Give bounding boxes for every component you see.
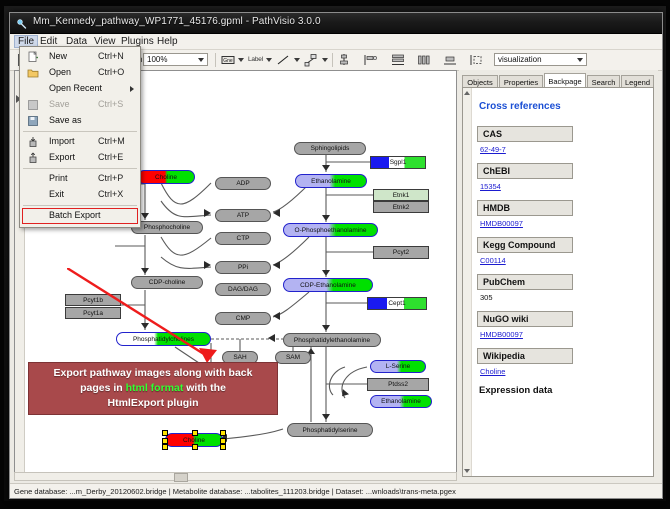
selection-handle[interactable] — [162, 444, 168, 450]
save-disk-icon — [27, 99, 39, 111]
metabolite-node-ethanolamine2[interactable]: Ethanolamine — [370, 395, 432, 408]
arrow-petn-to-cdpetn — [322, 270, 330, 276]
menu-item-print[interactable]: PrintCtrl+P — [20, 171, 140, 187]
node-label: CTP — [237, 235, 250, 242]
metabolite-node-sphingolipids[interactable]: Sphingolipids — [294, 142, 366, 155]
metabolite-node-adp[interactable]: ADP — [215, 177, 271, 190]
callout-line-2-pre: pages in — [80, 382, 126, 394]
node-label: PPi — [238, 264, 248, 271]
callout-highlight: html format — [126, 382, 184, 394]
node-label: Ptdss2 — [388, 381, 408, 388]
window-title: Mm_Kennedy_pathway_WP1771_45176.gpml - P… — [33, 16, 321, 27]
menu-item-save-as[interactable]: Save as — [20, 113, 140, 129]
metabolite-node-cdp-choline[interactable]: CDP-choline — [131, 276, 203, 289]
metabolite-node-ctp[interactable]: CTP — [215, 232, 271, 245]
pathvisio-icon — [16, 17, 28, 29]
node-label: Ethanolamine — [311, 178, 351, 185]
metabolite-node-dag-dag[interactable]: DAG/DAG — [215, 283, 271, 296]
chevron-down-icon-2 — [577, 58, 583, 62]
menu-separator — [23, 131, 137, 132]
node-label: Phosphatidylcholines — [133, 336, 194, 343]
visualization-value: visualization — [498, 55, 542, 64]
menu-item-accelerator: Ctrl+M — [98, 136, 125, 146]
side-panel-tabs: Objects Properties Backpage Search Legen… — [462, 73, 658, 88]
arrow-cmp-right — [273, 312, 280, 320]
cross-references-heading: Cross references — [479, 101, 647, 112]
menu-item-label: Open — [49, 67, 71, 77]
metabolite-node-l-serine[interactable]: L-Serine — [370, 360, 426, 373]
arrow-atp-right — [273, 209, 280, 217]
menu-item-label: Open Recent — [49, 83, 102, 93]
menu-item-label: Print — [49, 173, 68, 183]
svg-text:Gne: Gne — [223, 58, 233, 64]
gene-node-pcyt2[interactable]: Pcyt2 — [373, 246, 429, 259]
window-titlebar: Mm_Kennedy_pathway_WP1771_45176.gpml - P… — [10, 13, 662, 34]
xref-source-hmdb: HMDB — [477, 200, 573, 216]
line-icon[interactable] — [275, 52, 291, 68]
metabolite-node-phosphatidylethanolamine[interactable]: Phosphatidylethanolamine — [283, 333, 381, 347]
node-label: ADP — [236, 180, 249, 187]
menu-item-accelerator: Ctrl+X — [98, 189, 123, 199]
selection-handle[interactable] — [192, 444, 198, 450]
arrow-ppi-right — [273, 261, 280, 269]
menu-item-label: Batch Export — [49, 210, 101, 220]
open-folder-icon — [27, 67, 39, 79]
gene-node-etnk2[interactable]: Etnk2 — [373, 201, 429, 213]
gene-node-pcyt1b[interactable]: Pcyt1b — [65, 294, 121, 306]
xref-value-pubchem: 305 — [480, 293, 647, 302]
metabolite-node-ppi[interactable]: PPi — [215, 261, 271, 274]
node-label: Sphingolipids — [311, 145, 350, 152]
metabolite-node-o-phosphoethanolamine[interactable]: O-Phosphoethanolamine — [283, 223, 378, 237]
scroll-down-icon[interactable] — [464, 469, 470, 473]
backpage-content: Cross references CAS62-49-7ChEBI15354HMD… — [473, 88, 651, 476]
pathvisio-window: Mm_Kennedy_pathway_WP1771_45176.gpml - P… — [9, 12, 663, 499]
export-icon — [27, 152, 39, 164]
align-left-icon[interactable] — [362, 52, 378, 68]
node-label: DAG/DAG — [228, 286, 258, 293]
node-label: Choline — [155, 174, 177, 181]
arrow-phosphocholine-to-cdpcholine — [141, 268, 149, 274]
arrow-etn-to-petn — [322, 215, 330, 221]
metabolite-node-ethanolamine[interactable]: Ethanolamine — [295, 174, 367, 188]
annotation-callout: Export pathway images along with back pa… — [28, 362, 278, 415]
datanode-dropdown-icon[interactable] — [238, 58, 244, 62]
visualization-combobox[interactable]: visualization — [494, 53, 587, 66]
chevron-right-icon — [130, 86, 134, 92]
menu-item-save: SaveCtrl+S — [20, 97, 140, 113]
node-label: Etnk2 — [393, 204, 410, 211]
selection-handle[interactable] — [192, 430, 198, 436]
arrow-pe-to-pc — [268, 334, 275, 342]
gene-node-pcyt1a[interactable]: Pcyt1a — [65, 307, 121, 319]
menu-item-exit[interactable]: ExitCtrl+X — [20, 187, 140, 203]
metabolite-node-phosphatidylserine[interactable]: Phosphatidylserine — [287, 423, 373, 437]
new-document-icon — [27, 51, 39, 63]
node-label: CDP-choline — [149, 279, 186, 286]
canvas-horizontal-scrollbar[interactable] — [14, 472, 457, 481]
gene-node-sgpl1[interactable]: Sgpl1 — [370, 156, 426, 169]
menu-item-new[interactable]: NewCtrl+N — [20, 49, 140, 65]
callout-line-1: Export pathway images along with back — [35, 366, 271, 381]
arrow-pe-to-ps — [322, 414, 330, 420]
import-icon — [27, 136, 39, 148]
metabolite-node-cdp-ethanolamine[interactable]: CDP-Ethanolamine — [283, 278, 373, 292]
xref-value-wikipedia[interactable]: Choline — [480, 367, 647, 376]
chevron-down-icon — [198, 58, 204, 62]
node-label: Etnk1 — [393, 192, 410, 199]
metabolite-node-cmp[interactable]: CMP — [215, 312, 271, 325]
node-label: Choline — [183, 437, 205, 444]
menu-item-accelerator: Ctrl+S — [98, 99, 123, 109]
gene-node-ptdss2[interactable]: Ptdss2 — [367, 378, 429, 391]
group-icon[interactable] — [468, 52, 484, 68]
screenshot-root: Mm_Kennedy_pathway_WP1771_45176.gpml - P… — [0, 0, 670, 509]
interaction-dropdown-icon[interactable] — [322, 58, 328, 62]
xref-source-chebi: ChEBI — [477, 163, 573, 179]
gene-node-cept1[interactable]: Cept1 — [367, 297, 427, 310]
zoom-combobox[interactable]: 100% — [143, 53, 208, 66]
metabolite-node-phosphocholine[interactable]: Phosphocholine — [131, 221, 203, 234]
menu-item-label: Save — [49, 99, 70, 109]
xref-source-wikipedia: Wikipedia — [477, 348, 573, 364]
callout-line-2-post: with the — [183, 382, 226, 394]
node-label: O-Phosphoethanolamine — [295, 227, 367, 234]
node-label: CMP — [236, 315, 250, 322]
callout-line-3: HtmlExport plugin — [35, 396, 271, 411]
metabolite-node-atp[interactable]: ATP — [215, 209, 271, 222]
node-label: SAM — [286, 354, 300, 361]
interaction-icon[interactable] — [303, 52, 319, 68]
cross-reference-list: CAS62-49-7ChEBI15354HMDBHMDB00097Kegg Co… — [477, 126, 647, 376]
save-as-icon — [27, 115, 39, 127]
status-bar: Gene database: ...m_Derby_20120602.bridg… — [10, 483, 662, 498]
menu-item-label: Import — [49, 136, 75, 146]
arrow-sphingolipids-to-etn — [322, 165, 330, 171]
node-label: L-Serine — [386, 363, 411, 370]
node-label: Ethanolamine — [381, 398, 421, 405]
arrow-cdpetn-to-pe — [322, 325, 330, 331]
node-label: ATP — [237, 212, 249, 219]
selection-handle[interactable] — [220, 430, 226, 436]
line-dropdown-icon[interactable] — [294, 58, 300, 62]
label-dropdown-icon[interactable] — [266, 58, 272, 62]
menu-item-open-recent[interactable]: Open Recent — [20, 81, 140, 97]
size-icon[interactable] — [442, 52, 458, 68]
side-panel: Objects Properties Backpage Search Legen… — [459, 70, 658, 479]
xref-value-kegg-compound[interactable]: C00114 — [480, 256, 647, 265]
metabolite-node-phosphatidylcholines[interactable]: Phosphatidylcholines — [116, 332, 211, 346]
menu-item-accelerator: Ctrl+N — [98, 51, 124, 61]
xref-value-cas[interactable]: 62-49-7 — [480, 145, 647, 154]
file-menu-items: NewCtrl+NOpenCtrl+OOpen RecentSaveCtrl+S… — [20, 49, 140, 224]
toolbar-separator-3 — [215, 53, 216, 67]
stack-icon[interactable] — [390, 52, 406, 68]
xref-value-nugo-wiki[interactable]: HMDB00097 — [480, 330, 647, 339]
callout-line-2: pages in html format with the — [35, 381, 271, 396]
menu-item-label: Exit — [49, 189, 64, 199]
align-top-icon[interactable] — [336, 52, 352, 68]
expression-data-heading: Expression data — [479, 385, 647, 396]
menu-item-import[interactable]: ImportCtrl+M — [20, 134, 140, 150]
backpage-panel: Cross references CAS62-49-7ChEBI15354HMD… — [462, 87, 654, 477]
datanode-icon[interactable]: Gne — [220, 52, 236, 68]
metabolite-node-sam[interactable]: SAM — [275, 351, 311, 364]
tab-backpage[interactable]: Backpage — [544, 73, 586, 88]
node-label: CDP-Ethanolamine — [300, 282, 356, 289]
menu-separator — [23, 205, 137, 206]
node-label: SAH — [233, 354, 246, 361]
selection-handle[interactable] — [162, 430, 168, 436]
distribute-icon[interactable] — [416, 52, 432, 68]
menu-item-label: Save as — [49, 115, 82, 125]
menu-item-accelerator: Ctrl+P — [98, 173, 123, 183]
gene-node-etnk1[interactable]: Etnk1 — [373, 189, 429, 201]
toolbar-separator-4 — [332, 53, 333, 67]
node-label: Phosphocholine — [144, 224, 190, 231]
node-label: Sgpl1 — [390, 159, 407, 166]
zoom-value: 100% — [147, 55, 167, 64]
arrow-to-ppi — [204, 261, 211, 269]
selection-handle[interactable] — [220, 444, 226, 450]
menu-item-open[interactable]: OpenCtrl+O — [20, 65, 140, 81]
arrow-choline-to-phosphocholine — [141, 213, 149, 219]
menu-item-label: Export — [49, 152, 75, 162]
xref-source-cas: CAS — [477, 126, 573, 142]
xref-value-chebi[interactable]: 15354 — [480, 182, 647, 191]
node-label: Pcyt1a — [83, 310, 103, 317]
backpage-scrollbar[interactable] — [463, 88, 472, 476]
menu-item-label: New — [49, 51, 67, 61]
menu-item-accelerator: Ctrl+E — [98, 152, 123, 162]
node-label: Pcyt2 — [393, 249, 409, 256]
scrollbar-thumb[interactable] — [174, 473, 188, 482]
xref-source-pubchem: PubChem — [477, 274, 573, 290]
node-label: Phosphatidylserine — [303, 427, 358, 434]
arrow-cdpcholine-to-pc — [141, 323, 149, 329]
node-label: Phosphatidylethanolamine — [294, 337, 370, 344]
node-label: Pcyt1b — [83, 297, 103, 304]
xref-source-kegg-compound: Kegg Compound — [477, 237, 573, 253]
scroll-up-icon[interactable] — [464, 91, 470, 95]
label-tool-label: Label — [248, 56, 263, 63]
xref-value-hmdb[interactable]: HMDB00097 — [480, 219, 647, 228]
menu-item-export[interactable]: ExportCtrl+E — [20, 150, 140, 166]
file-menu-dropdown[interactable]: NewCtrl+NOpenCtrl+OOpen RecentSaveCtrl+S… — [19, 46, 141, 228]
menu-help[interactable]: Help — [153, 35, 182, 48]
menu-item-batch-export[interactable]: Batch Export — [22, 208, 138, 224]
metabolite-node-choline[interactable]: Choline — [137, 170, 195, 184]
arrow-to-atp — [204, 209, 211, 217]
node-label: Cept1 — [388, 300, 405, 307]
menu-item-accelerator: Ctrl+O — [98, 67, 124, 77]
menu-separator — [23, 168, 137, 169]
xref-source-nugo-wiki: NuGO wiki — [477, 311, 573, 327]
